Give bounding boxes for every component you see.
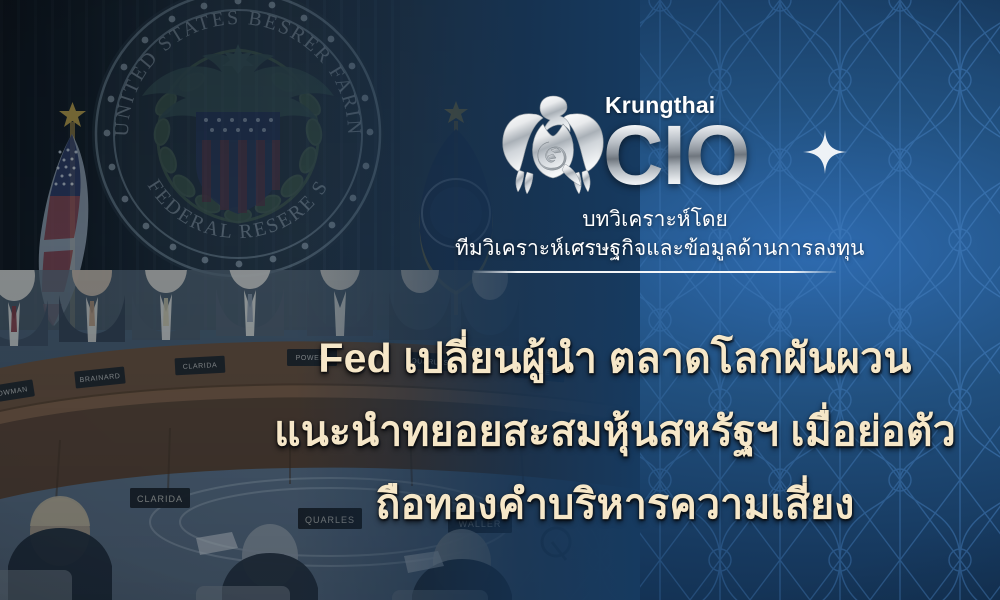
krungthai-cio-logo-block: Krungthai CIO บทวิเคราะห์โดย ทีมวิเคราะห… — [455, 88, 855, 273]
headline-line-3: ถือทองคำบริหารความเสี่ยง — [250, 468, 980, 541]
headline-line-2: แนะนำทยอยสะสมหุ้นสหรัฐฯ เมื่อย่อตัว — [250, 395, 980, 468]
analysis-subtitle-line2: ทีมวิเคราะห์เศรษฐกิจและข้อมูลด้านการลงทุ… — [455, 234, 855, 264]
analysis-subtitle-line1: บทวิเคราะห์โดย — [455, 206, 855, 234]
cio-acronym: CIO — [603, 112, 749, 198]
headline-line-1: Fed เปลี่ยนผู้นำ ตลาดโลกผันผวน — [250, 322, 980, 395]
thumbnail-canvas: UNITED STATES BESRER FARIN FEDERAL RESER… — [0, 0, 1000, 600]
cio-acronym-wrap: CIO — [603, 112, 863, 198]
logo-divider — [474, 271, 836, 273]
sparkle-icon — [803, 130, 847, 174]
headline-block: Fed เปลี่ยนผู้นำ ตลาดโลกผันผวน แนะนำทยอย… — [250, 322, 980, 541]
krungthai-garuda-emblem — [493, 90, 613, 196]
